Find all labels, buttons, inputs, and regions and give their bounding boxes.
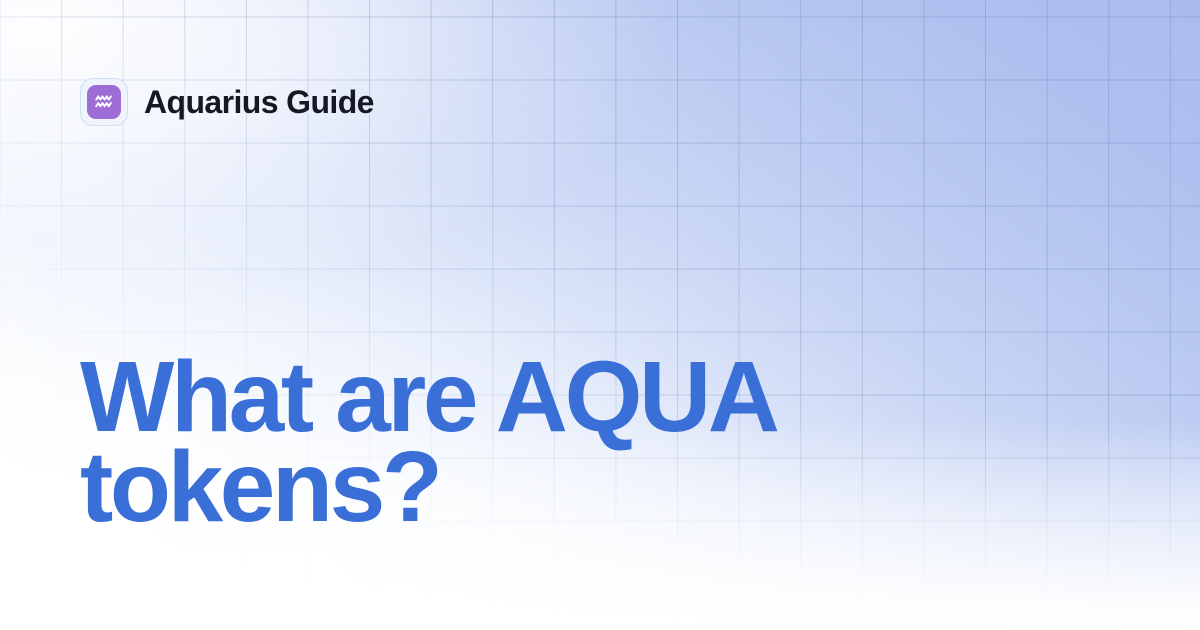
card-content: Aquarius Guide What are AQUA tokens? — [0, 0, 1200, 630]
page-title: What are AQUA tokens? — [80, 352, 840, 532]
brand-logo-tile — [87, 85, 121, 119]
brand-lockup: Aquarius Guide — [80, 78, 374, 126]
og-card: Aquarius Guide What are AQUA tokens? — [0, 0, 1200, 630]
aquarius-zodiac-icon — [92, 90, 116, 114]
brand-name: Aquarius Guide — [144, 86, 374, 118]
brand-logo-frame — [80, 78, 128, 126]
